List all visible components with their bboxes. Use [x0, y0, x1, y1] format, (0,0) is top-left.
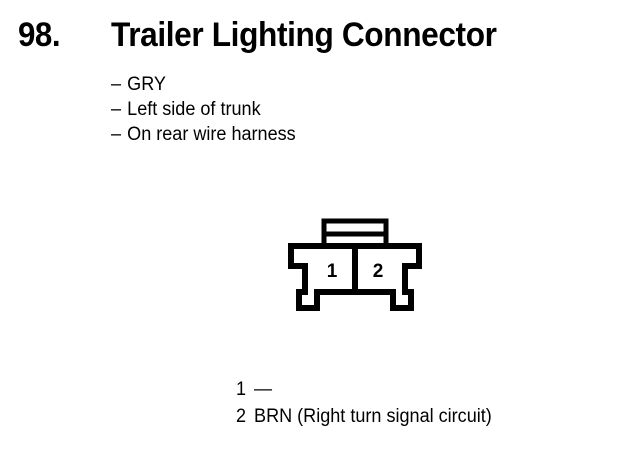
entry-number: 98.	[18, 18, 60, 52]
cavity-number-1: 1	[327, 261, 338, 282]
pin-legend: 1— 2BRN (Right turn signal circuit)	[236, 376, 626, 430]
entry-header: 98. Trailer Lighting Connector	[0, 0, 640, 62]
connector-outline-icon: 1 2	[285, 214, 430, 314]
list-item: –GRY	[111, 72, 520, 97]
dash-bullet-icon: –	[111, 72, 127, 97]
connector-detail-list: –GRY –Left side of trunk –On rear wire h…	[111, 72, 541, 147]
legend-pin-number: 2	[236, 403, 254, 430]
legend-pin-description: BRN (Right turn signal circuit)	[254, 406, 492, 427]
list-item-label: GRY	[127, 74, 166, 95]
list-item: –Left side of trunk	[111, 97, 520, 122]
legend-row: 1—	[236, 376, 607, 403]
legend-pin-description: —	[254, 379, 272, 400]
page-title: Trailer Lighting Connector	[111, 18, 497, 52]
list-item: –On rear wire harness	[111, 122, 520, 147]
dash-bullet-icon: –	[111, 122, 127, 147]
connector-locking-tab	[324, 221, 386, 246]
legend-row: 2BRN (Right turn signal circuit)	[236, 403, 607, 430]
dash-bullet-icon: –	[111, 97, 127, 122]
list-item-label: On rear wire harness	[127, 124, 296, 145]
connector-diagram: 1 2	[285, 214, 430, 314]
legend-pin-number: 1	[236, 376, 254, 403]
cavity-number-2: 2	[373, 261, 384, 282]
list-item-label: Left side of trunk	[127, 99, 260, 120]
